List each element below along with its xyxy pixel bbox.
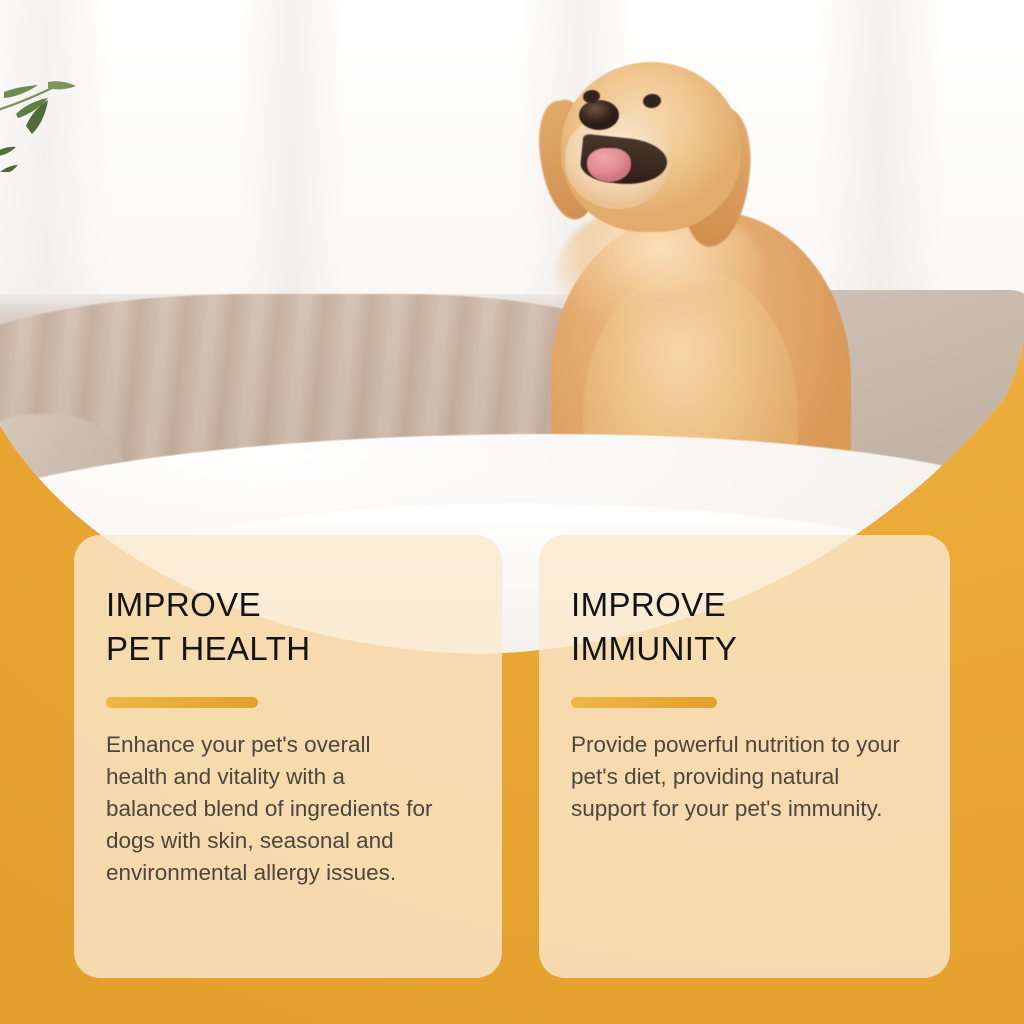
card-title: IMPROVE PET HEALTH [106, 583, 468, 671]
feature-cards: IMPROVE PET HEALTH Enhance your pet's ov… [0, 0, 1024, 1024]
card-improve-pet-health[interactable]: IMPROVE PET HEALTH Enhance your pet's ov… [74, 535, 502, 978]
card-body-text: Provide powerful nutrition to your pet's… [571, 729, 916, 825]
accent-bar [571, 697, 717, 708]
promo-canvas: IMPROVE PET HEALTH Enhance your pet's ov… [0, 0, 1024, 1024]
accent-bar [106, 697, 258, 708]
card-title: IMPROVE IMMUNITY [571, 583, 916, 671]
card-body-text: Enhance your pet's overall health and vi… [106, 729, 436, 889]
card-improve-immunity[interactable]: IMPROVE IMMUNITY Provide powerful nutrit… [539, 535, 950, 978]
